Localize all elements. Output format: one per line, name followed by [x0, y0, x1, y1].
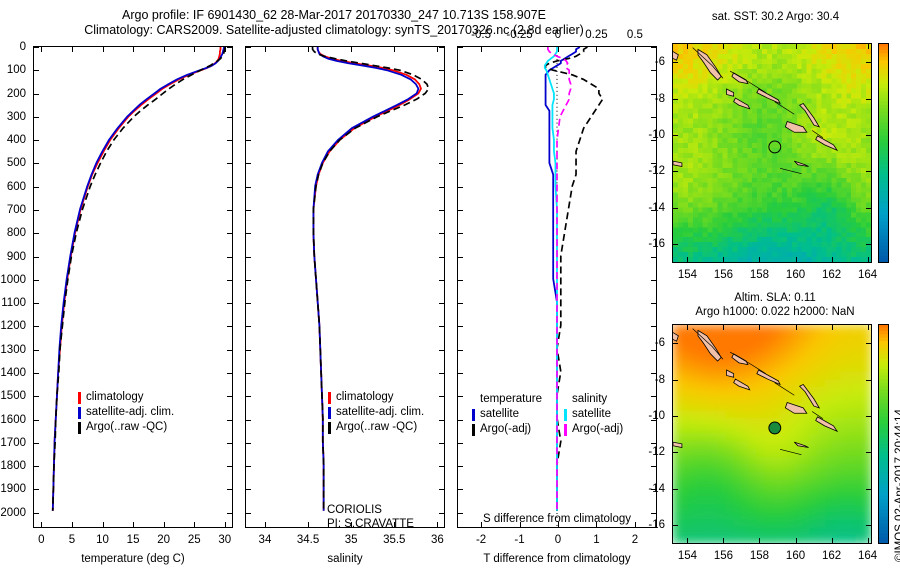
principal-investigator: PI: S.CRAVATTE	[327, 517, 414, 531]
x-tick-label-top: 0.25	[585, 29, 607, 41]
legend-item: Argo(-adj)	[564, 422, 623, 437]
legend-label: satellite	[572, 407, 611, 422]
temperature-axis-label: temperature (deg C)	[34, 553, 232, 565]
depth-tick-label: 600	[7, 181, 26, 193]
legend-header: salinity	[564, 392, 623, 407]
map-lon-tick-label: 158	[750, 550, 769, 562]
x-tick-label: 34.5	[297, 534, 319, 546]
legend-swatch	[472, 409, 475, 421]
depth-tick-label: 500	[7, 157, 26, 169]
depth-tick-label: 1300	[0, 344, 26, 356]
legend-swatch	[78, 422, 81, 434]
map-lat-tick-label: -10	[648, 410, 665, 422]
difference-panel[interactable]: -2-1012-0.5-0.2500.250.5 T difference fr…	[457, 46, 657, 528]
map-lon-tick-label: 156	[714, 550, 733, 562]
depth-tick-label: 1500	[0, 390, 26, 402]
depth-tick-label: 900	[7, 251, 26, 263]
legend-swatch	[328, 392, 331, 404]
depth-tick-label: 400	[7, 134, 26, 146]
legend-item: satellite	[564, 407, 623, 422]
legend-item: Argo(..raw -QC)	[78, 420, 174, 435]
legend-swatch	[328, 422, 331, 434]
title-line-2: Climatology: CARS2009. Satellite-adjuste…	[0, 23, 668, 38]
map-lat-tick-label: -16	[648, 238, 665, 250]
map-lon-tick-label: 154	[678, 550, 697, 562]
sla-map-canvas	[673, 325, 871, 543]
legend-swatch	[472, 424, 475, 436]
legend-item: satellite	[472, 407, 542, 422]
temperature-panel[interactable]: 0100200300400500600700800900100011001200…	[33, 46, 233, 528]
map-lat-tick-label: -10	[648, 129, 665, 141]
depth-tick-label: 1000	[0, 274, 26, 286]
legend-swatch	[564, 424, 567, 436]
x-tick-label: 20	[157, 534, 170, 546]
sla-colorbar	[878, 324, 889, 544]
legend-column: temperaturesatelliteArgo(-adj)	[472, 392, 542, 437]
legend-label: Argo(-adj)	[572, 422, 623, 437]
legend-column: salinitysatelliteArgo(-adj)	[564, 392, 623, 437]
x-tick-label: 2	[632, 534, 638, 546]
title-line-1: Argo profile: IF 6901430_62 28-Mar-2017 …	[0, 8, 668, 23]
x-tick-label: 25	[188, 534, 201, 546]
x-tick-label: 10	[96, 534, 109, 546]
depth-tick-label: 300	[7, 111, 26, 123]
map-lon-tick-label: 160	[786, 269, 805, 281]
depth-tick-label: 1900	[0, 483, 26, 495]
map-lon-tick-label: 164	[858, 269, 877, 281]
map-lat-tick-label: -12	[648, 165, 665, 177]
temperature-profile-plot	[34, 47, 232, 527]
x-tick-label: 35	[345, 534, 358, 546]
depth-tick-label: 1100	[1, 297, 26, 309]
difference-legend: temperaturesatelliteArgo(-adj)salinitysa…	[472, 392, 623, 437]
x-tick-label: -2	[476, 534, 486, 546]
legend-item: satellite-adj. clim.	[328, 405, 424, 420]
x-tick-label: 5	[69, 534, 75, 546]
map-lon-tick-label: 154	[678, 269, 697, 281]
depth-tick-label: 100	[7, 64, 26, 76]
x-tick-label: 34	[259, 534, 272, 546]
legend-label: climatology	[336, 390, 394, 405]
map-lon-tick-label: 162	[822, 550, 841, 562]
x-tick-label: 36	[431, 534, 444, 546]
legend-label: Argo(-adj)	[480, 422, 531, 437]
map-lon-tick-label: 156	[714, 269, 733, 281]
legend-item: Argo(-adj)	[472, 422, 542, 437]
map-lon-tick-label: 158	[750, 269, 769, 281]
temperature-legend: climatologysatellite-adj. clim.Argo(..ra…	[78, 390, 174, 435]
map-lon-tick-label: 160	[786, 550, 805, 562]
depth-tick-label: 2000	[0, 507, 26, 519]
legend-swatch	[78, 392, 81, 404]
x-tick-label: 1	[593, 534, 599, 546]
map-lon-tick-label: 162	[822, 269, 841, 281]
legend-item: climatology	[78, 390, 174, 405]
data-centre-name: CORIOLIS	[327, 503, 414, 517]
sst-map-title: sat. SST: 30.2 Argo: 30.4	[668, 10, 883, 24]
sla-map-title: Altim. SLA: 0.11 Argo h1000: 0.022 h2000…	[660, 291, 890, 319]
salinity-panel[interactable]: 3434.53535.536 salinity	[245, 46, 445, 528]
map-lat-tick-label: -8	[655, 93, 665, 105]
depth-tick-label: 1200	[0, 320, 26, 332]
salinity-profile-plot	[246, 47, 444, 527]
argo-profile-figure: Argo profile: IF 6901430_62 28-Mar-2017 …	[0, 0, 900, 580]
x-tick-label: 15	[127, 534, 140, 546]
legend-swatch	[564, 409, 567, 421]
x-tick-label: 35.5	[383, 534, 405, 546]
map-lat-tick-label: -16	[648, 519, 665, 531]
legend-label: satellite-adj. clim.	[86, 405, 174, 420]
legend-swatch	[78, 407, 81, 419]
map-lat-tick-label: -14	[648, 202, 665, 214]
x-tick-label: 0	[555, 534, 561, 546]
legend-item: satellite-adj. clim.	[78, 405, 174, 420]
legend-label: Argo(..raw -QC)	[86, 420, 167, 435]
x-tick-label: 0	[38, 534, 44, 546]
salinity-legend: climatologysatellite-adj. clim.Argo(..ra…	[328, 390, 424, 435]
depth-tick-label: 1700	[0, 437, 26, 449]
x-tick-label-top: -0.5	[471, 29, 491, 41]
legend-item: climatology	[328, 390, 424, 405]
map-lat-tick-label: -14	[648, 483, 665, 495]
map-lat-tick-label: -6	[655, 56, 665, 68]
legend-label: satellite	[480, 407, 519, 422]
depth-tick-label: 700	[7, 204, 26, 216]
sst-colorbar	[878, 43, 889, 263]
difference-axis-label-top: S difference from climatology	[457, 513, 657, 525]
sst-map[interactable]: -6-8-10-12-14-16154156158160162164	[672, 43, 872, 263]
legend-label: Argo(..raw -QC)	[336, 420, 417, 435]
depth-tick-label: 200	[7, 88, 26, 100]
map-lat-tick-label: -6	[655, 337, 665, 349]
salinity-axis-label: salinity	[246, 553, 444, 565]
legend-header: temperature	[472, 392, 542, 407]
difference-profile-plot	[458, 47, 656, 527]
figure-title: Argo profile: IF 6901430_62 28-Mar-2017 …	[0, 8, 668, 38]
sla-title-line-2: Argo h1000: 0.022 h2000: NaN	[660, 305, 890, 319]
depth-tick-label: 1600	[0, 414, 26, 426]
legend-swatch	[328, 407, 331, 419]
sla-map[interactable]: -6-8-10-12-14-16154156158160162164	[672, 324, 872, 544]
map-lat-tick-label: -8	[655, 374, 665, 386]
depth-tick-label: 0	[20, 41, 26, 53]
depth-tick-label: 800	[7, 227, 26, 239]
x-tick-label-top: 0	[555, 29, 561, 41]
x-tick-label-top: 0.5	[627, 29, 643, 41]
x-tick-label-top: -0.25	[506, 29, 532, 41]
sla-title-line-1: Altim. SLA: 0.11	[660, 291, 890, 305]
depth-tick-label: 1800	[0, 460, 26, 472]
legend-item: Argo(..raw -QC)	[328, 420, 424, 435]
data-centre-annotation: CORIOLIS PI: S.CRAVATTE	[327, 503, 414, 531]
sst-map-canvas	[673, 44, 871, 262]
x-tick-label: 30	[218, 534, 231, 546]
map-lon-tick-label: 164	[858, 550, 877, 562]
depth-tick-label: 1400	[0, 367, 26, 379]
legend-label: satellite-adj. clim.	[336, 405, 424, 420]
difference-axis-label-bottom: T difference from climatology	[458, 553, 656, 565]
imos-timestamp: ©IMOS 02-Apr-2017 20:44:14	[894, 409, 900, 562]
legend-label: climatology	[86, 390, 144, 405]
map-lat-tick-label: -12	[648, 446, 665, 458]
x-tick-label: -1	[514, 534, 524, 546]
